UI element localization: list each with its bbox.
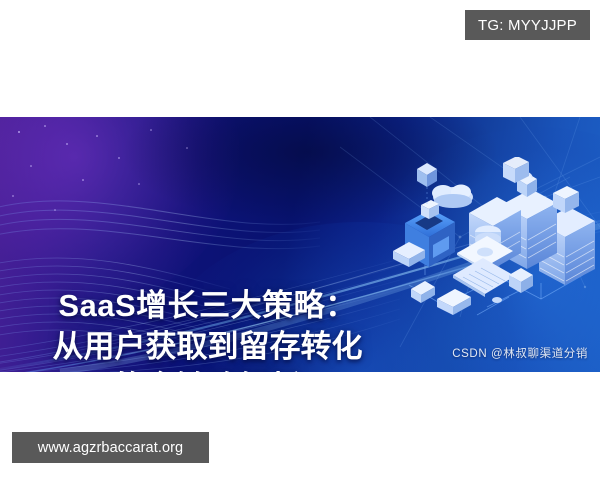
monitor-icon xyxy=(553,186,579,213)
page-canvas: SaaS增长三大策略： 从用户获取到留存转化 的全链路解析 xyxy=(0,0,600,480)
tg-handle-badge: TG: MYYJJPP xyxy=(465,10,590,40)
website-url-badge: www.agzrbaccarat.org xyxy=(12,432,209,463)
csdn-watermark: CSDN @林叔聊渠道分销 xyxy=(452,345,588,361)
hero-banner: SaaS增长三大策略： 从用户获取到留存转化 的全链路解析 xyxy=(0,117,600,372)
purple-glow xyxy=(0,117,240,307)
cube-icon xyxy=(509,268,533,293)
title-line-3: 的全链路解析 xyxy=(0,367,415,372)
tg-handle-label: TG: MYYJJPP xyxy=(478,17,577,34)
notebook-icon xyxy=(437,289,471,315)
title-line-2: 从用户获取到留存转化 xyxy=(0,326,415,367)
isometric-cloud-datacenter-illustration xyxy=(391,157,596,327)
banner-title: SaaS增长三大策略： 从用户获取到留存转化 的全链路解析 xyxy=(0,285,415,372)
title-line-1: SaaS增长三大策略： xyxy=(0,285,415,326)
website-url-label: www.agzrbaccarat.org xyxy=(38,440,183,456)
